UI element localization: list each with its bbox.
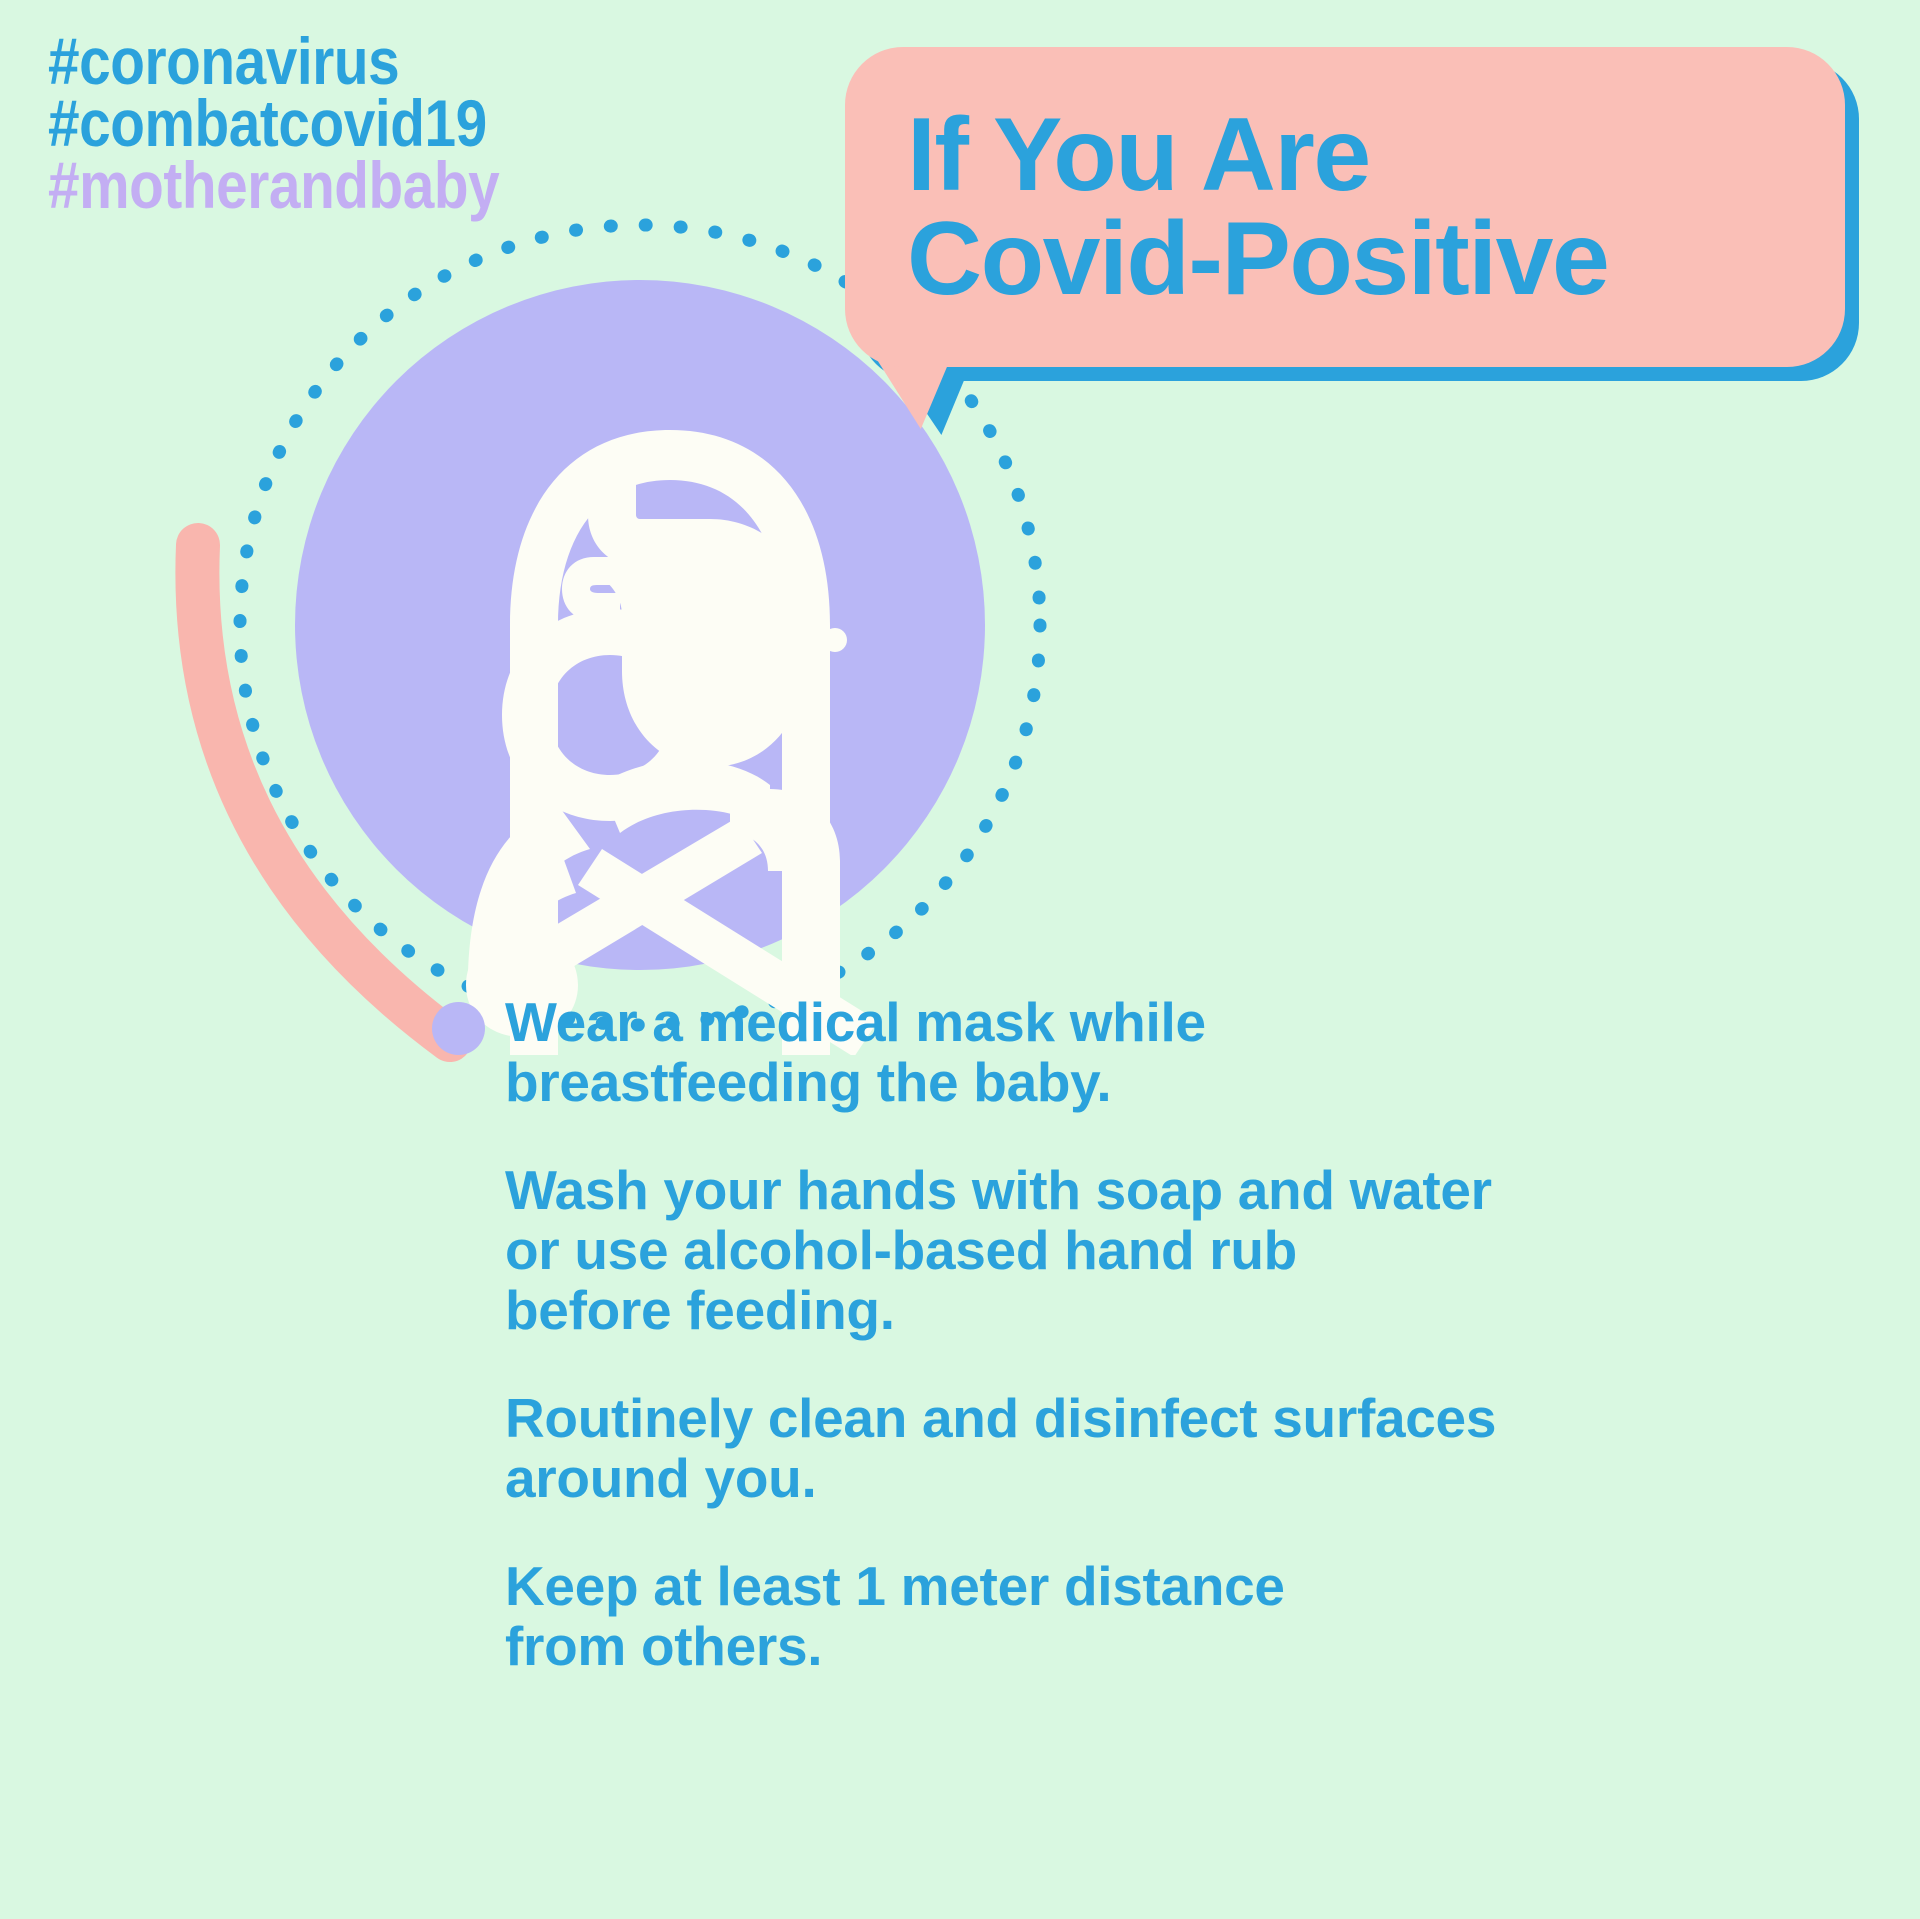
headline-line-1: If You Are <box>907 103 1845 207</box>
advice-item-clean-surfaces: Routinely clean and disinfect surfaces a… <box>505 1388 1895 1508</box>
headline: If You Are Covid-Positive <box>845 47 1845 367</box>
advice-item-wash-hands: Wash your hands with soap and water or u… <box>505 1160 1895 1340</box>
hashtag-motherandbaby: #motherandbaby <box>48 154 499 216</box>
hashtag-group: #coronavirus #combatcovid19 #motherandba… <box>48 30 573 216</box>
advice-item-keep-distance: Keep at least 1 meter distance from othe… <box>505 1556 1895 1676</box>
hashtag-coronavirus: #coronavirus <box>48 30 499 92</box>
poster-canvas: #coronavirus #combatcovid19 #motherandba… <box>0 0 1920 1919</box>
speech-bubble: If You Are Covid-Positive <box>845 47 1875 397</box>
advice-list: Wear a medical mask while breastfeeding … <box>505 992 1895 1676</box>
bullet-dot-marker <box>432 1002 485 1055</box>
advice-item-wear-mask: Wear a medical mask while breastfeeding … <box>505 992 1895 1112</box>
headline-line-2: Covid-Positive <box>907 207 1845 311</box>
hashtag-combatcovid19: #combatcovid19 <box>48 92 499 154</box>
eye-left <box>746 628 770 652</box>
